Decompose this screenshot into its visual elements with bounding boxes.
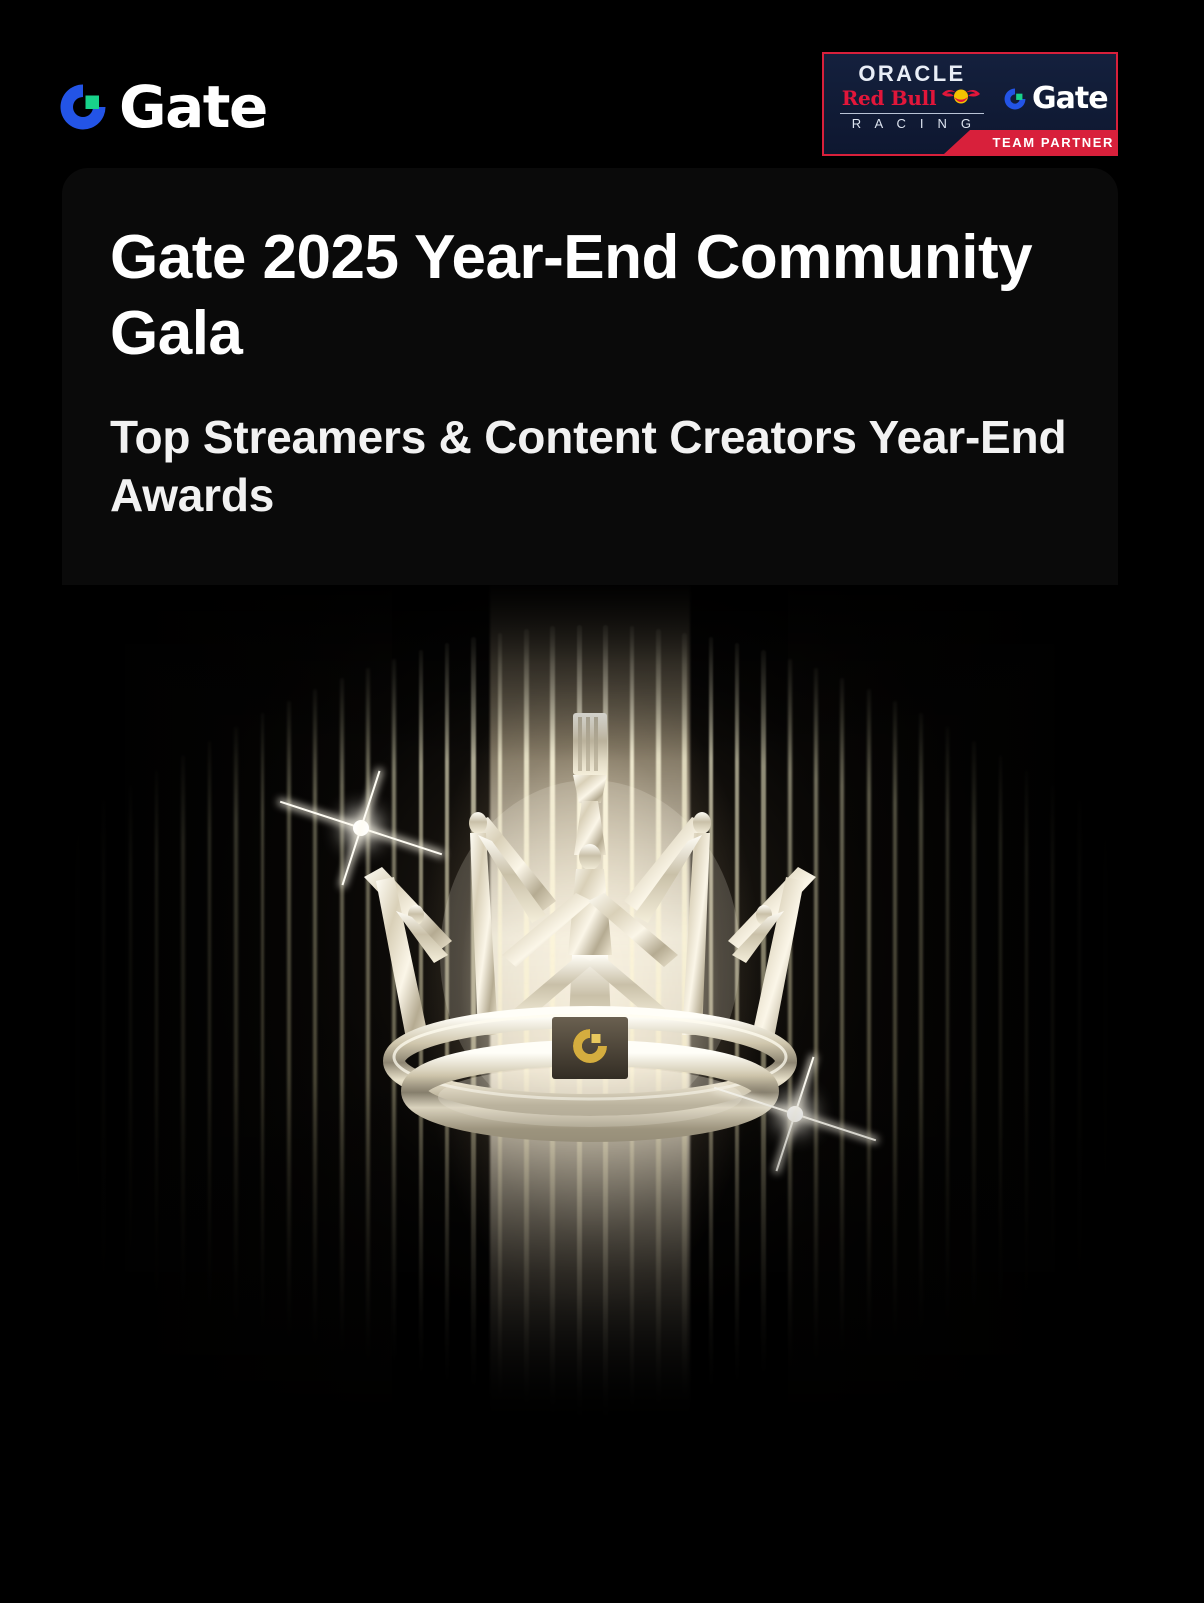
- light-bar: [261, 713, 265, 1331]
- light-bar: [129, 785, 132, 1294]
- page-title: Gate 2025 Year-End Community Gala: [110, 220, 1070, 371]
- team-partner-band: TEAM PARTNER: [944, 130, 1118, 154]
- light-bar: [234, 727, 238, 1324]
- team-partner-label: TEAM PARTNER: [992, 135, 1114, 150]
- top-bar: Gate ORACLE Red Bull R A C I N G: [0, 0, 1204, 170]
- red-bull-label: Red Bull: [842, 86, 937, 110]
- light-bar: [155, 770, 158, 1302]
- oracle-red-bull-racing-lockup: ORACLE Red Bull R A C I N G: [838, 62, 986, 131]
- card-header: Gate 2025 Year-End Community Gala Top St…: [62, 168, 1118, 524]
- light-bar: [1104, 815, 1107, 1278]
- page-subtitle: Top Streamers & Content Creators Year-En…: [110, 409, 1070, 524]
- light-bar: [76, 815, 79, 1278]
- light-bar: [208, 741, 212, 1317]
- light-bar: [1051, 785, 1054, 1294]
- light-bar: [946, 727, 950, 1324]
- oracle-label: ORACLE: [838, 62, 986, 85]
- light-bar: [1025, 770, 1028, 1302]
- light-bar: [867, 689, 871, 1347]
- light-bar: [313, 689, 317, 1347]
- light-bar: [893, 701, 897, 1340]
- badge-divider: [840, 113, 984, 114]
- gate-wordmark: Gate: [119, 78, 267, 136]
- gate-logo-icon: [1002, 86, 1028, 112]
- badge-gate-logo: Gate: [1002, 84, 1108, 114]
- racing-label: R A C I N G: [838, 116, 986, 131]
- light-bar: [999, 755, 1002, 1309]
- light-bar: [1078, 800, 1081, 1286]
- red-bull-racing-partner-badge[interactable]: ORACLE Red Bull R A C I N G: [822, 52, 1118, 156]
- gate-brand-logo[interactable]: Gate: [55, 78, 267, 136]
- badge-gate-wordmark: Gate: [1032, 84, 1108, 114]
- light-bar: [919, 713, 923, 1331]
- announcement-card: Gate 2025 Year-End Community Gala Top St…: [62, 168, 1118, 1468]
- light-bar: [287, 701, 291, 1340]
- crown-trophy: [320, 705, 860, 1175]
- gate-logo-icon: [55, 79, 111, 135]
- light-bar: [181, 755, 184, 1309]
- light-bar: [102, 800, 105, 1286]
- hero-image: [62, 585, 1118, 1468]
- red-bull-bulls-icon: [940, 85, 982, 112]
- light-bar: [972, 741, 976, 1317]
